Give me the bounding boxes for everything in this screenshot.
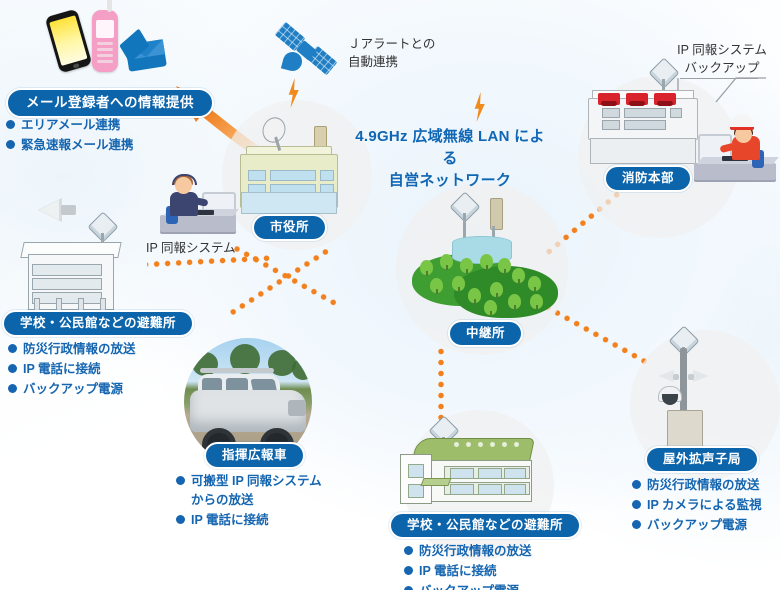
bullet-dot-icon	[404, 566, 413, 575]
speaker-right-icon	[688, 370, 709, 383]
bullet-dot-icon	[6, 140, 15, 149]
operator-icon	[168, 172, 214, 222]
bullet-dot-icon	[404, 586, 413, 590]
bullets-outdoor-speaker: 防災行政情報の放送 IP カメラによる監視 バックアップ電源	[632, 476, 762, 536]
speaker-left-icon	[658, 370, 679, 383]
satellite-icon	[275, 22, 337, 84]
pill-city-hall-label: 市役所	[270, 221, 309, 234]
feature-phone-icon	[92, 10, 118, 72]
caption-backup-system: IP 同報システム バックアップ	[664, 42, 780, 78]
pill-shelter-bottom-label: 学校・公民館などの避難所	[407, 519, 563, 532]
list-item: 可搬型 IP 同報システム からの放送	[176, 472, 322, 510]
page-title: 4.9GHz 広域無線 LAN による 自営ネットワーク	[355, 126, 545, 191]
fire-station-building-icon	[588, 86, 698, 166]
pill-shelter-left[interactable]: 学校・公民館などの避難所	[2, 310, 194, 337]
pill-mail-subscribers-label: メール登録者への情報提供	[26, 96, 194, 110]
bullet-dot-icon	[8, 364, 17, 373]
network-diagram: メール登録者への情報提供 エリアメール連携 緊急速報メール連携 Ｊアラートとの …	[0, 0, 780, 590]
outdoor-speaker-pole-icon	[650, 330, 720, 460]
pill-shelter-left-label: 学校・公民館などの避難所	[20, 317, 176, 330]
caption-ip-broadcast-system: IP 同報システム	[146, 240, 236, 258]
bullets-shelter-bottom: 防災行政情報の放送 IP 電話に接続 バックアップ電源	[404, 542, 532, 590]
antenna-icon	[653, 62, 675, 84]
bullets-shelter-left: 防災行政情報の放送 IP 電話に接続 バックアップ電源	[8, 340, 136, 400]
pill-command-vehicle-label: 指揮広報車	[222, 449, 287, 462]
bullet-dot-icon	[632, 520, 641, 529]
bullet-dot-icon	[632, 480, 641, 489]
list-item: 防災行政情報の放送	[404, 542, 532, 561]
pill-outdoor-speaker-label: 屋外拡声子局	[663, 453, 741, 466]
bullet-dot-icon	[404, 546, 413, 555]
pill-command-vehicle[interactable]: 指揮広報車	[204, 442, 305, 469]
list-item: IP 電話に接続	[404, 562, 532, 581]
bullet-dot-icon	[8, 384, 17, 393]
pill-shelter-bottom[interactable]: 学校・公民館などの避難所	[389, 512, 581, 539]
school-building-icon	[22, 240, 120, 312]
bullet-dot-icon	[632, 500, 641, 509]
pill-relay-station-label: 中継所	[466, 327, 505, 340]
horn-speaker-icon	[38, 198, 78, 222]
list-item: バックアップ電源	[8, 380, 136, 399]
antenna-icon-2	[92, 216, 114, 238]
caption-jalert: Ｊアラートとの 自動連携	[348, 36, 435, 72]
list-item: IP 電話に接続	[8, 360, 136, 379]
ip-camera-icon	[658, 386, 682, 402]
pill-mail-subscribers[interactable]: メール登録者への情報提供	[6, 88, 214, 118]
bullet-dot-icon	[6, 120, 15, 129]
antenna-icon-3	[454, 196, 476, 218]
list-item: エリアメール連携	[6, 116, 134, 135]
pill-city-hall[interactable]: 市役所	[252, 214, 327, 241]
pill-relay-station[interactable]: 中継所	[448, 320, 523, 347]
pill-outdoor-speaker[interactable]: 屋外拡声子局	[645, 446, 759, 473]
bullets-command-vehicle: 可搬型 IP 同報システム からの放送 IP 電話に接続	[176, 472, 322, 531]
bullet-dot-icon	[176, 476, 185, 485]
connector-relay-to-shelter-bottom	[438, 346, 444, 424]
list-item: IP 電話に接続	[176, 511, 322, 530]
city-hall-building-icon	[240, 140, 338, 214]
envelope-icon	[125, 39, 167, 72]
server-icon	[700, 8, 766, 42]
list-item: バックアップ電源	[404, 582, 532, 590]
list-item: 防災行政情報の放送	[632, 476, 762, 495]
bullets-mail: エリアメール連携 緊急速報メール連携	[6, 116, 134, 156]
pill-fire-hq-label: 消防本部	[622, 172, 674, 185]
list-item: 緊急速報メール連携	[6, 136, 134, 155]
smartphone-icon	[45, 9, 93, 74]
list-item: IP カメラによる監視	[632, 496, 762, 515]
bullet-dot-icon	[8, 344, 17, 353]
bullet-dot-icon	[176, 515, 185, 524]
pill-fire-hq[interactable]: 消防本部	[604, 165, 692, 192]
list-item: バックアップ電源	[632, 516, 762, 535]
list-item: 防災行政情報の放送	[8, 340, 136, 359]
mountain-relay-icon	[406, 196, 562, 322]
school-building-icon-2	[400, 432, 546, 510]
